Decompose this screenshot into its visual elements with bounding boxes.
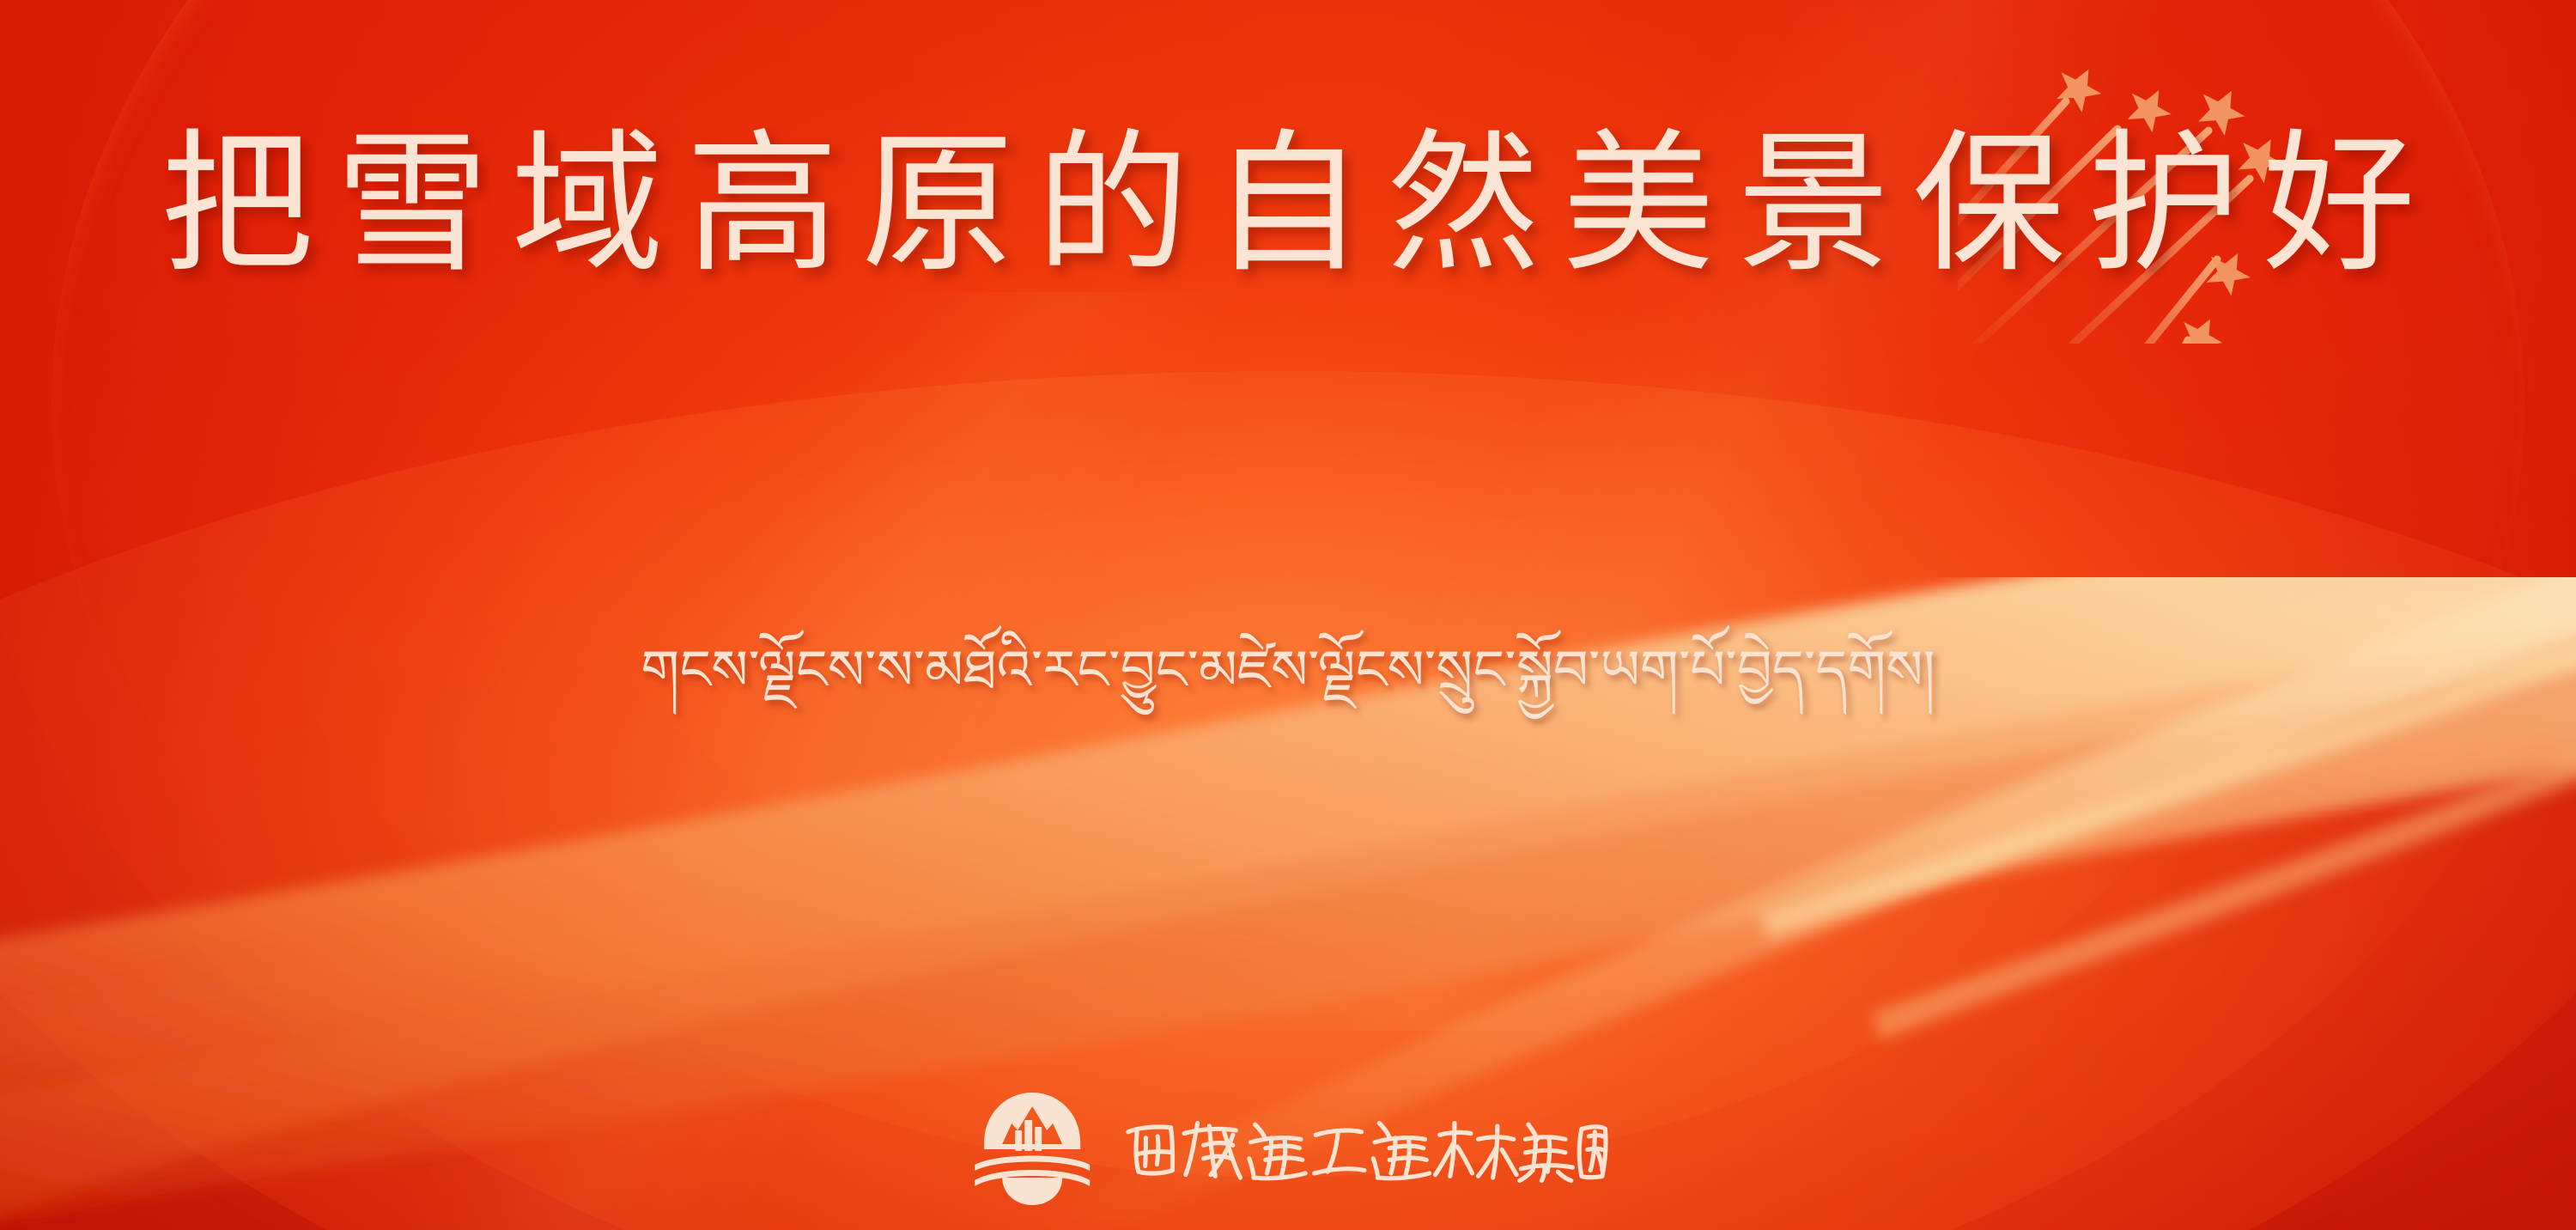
five-point-star-with-trail (2172, 309, 2230, 344)
propaganda-banner: 把雪域高原的自然美景保护好 གངས་ལྗོངས་ས་མཐོའི་རང་བྱུང་… (0, 0, 2576, 1230)
page-title: 把雪域高原的自然美景保护好 (0, 129, 2576, 282)
glyph-jian-1 (1249, 1124, 1305, 1178)
glyph-jian-2 (1373, 1123, 1429, 1178)
tibetan-subtitle: གངས་ལྗོངས་ས་མཐོའི་རང་བྱུང་མཛེས་ལྗོངས་སྲུ… (0, 642, 2576, 700)
glyph-xi (1128, 1127, 1173, 1173)
logo-lockup: 西藏建工建材集团 (968, 1082, 1608, 1211)
glyph-cai (1436, 1123, 1517, 1178)
star-trail-6 (2104, 340, 2188, 344)
logo-wordmark: 西藏建工建材集团 (1121, 1110, 1608, 1184)
mountain-dome-emblem (968, 1082, 1097, 1211)
glyph-tuan (1579, 1127, 1606, 1178)
glyph-gong (1315, 1130, 1364, 1173)
glyph-ji (1520, 1124, 1573, 1180)
glyph-zang (1184, 1123, 1240, 1178)
five-point-star-with-trail (2049, 58, 2108, 116)
